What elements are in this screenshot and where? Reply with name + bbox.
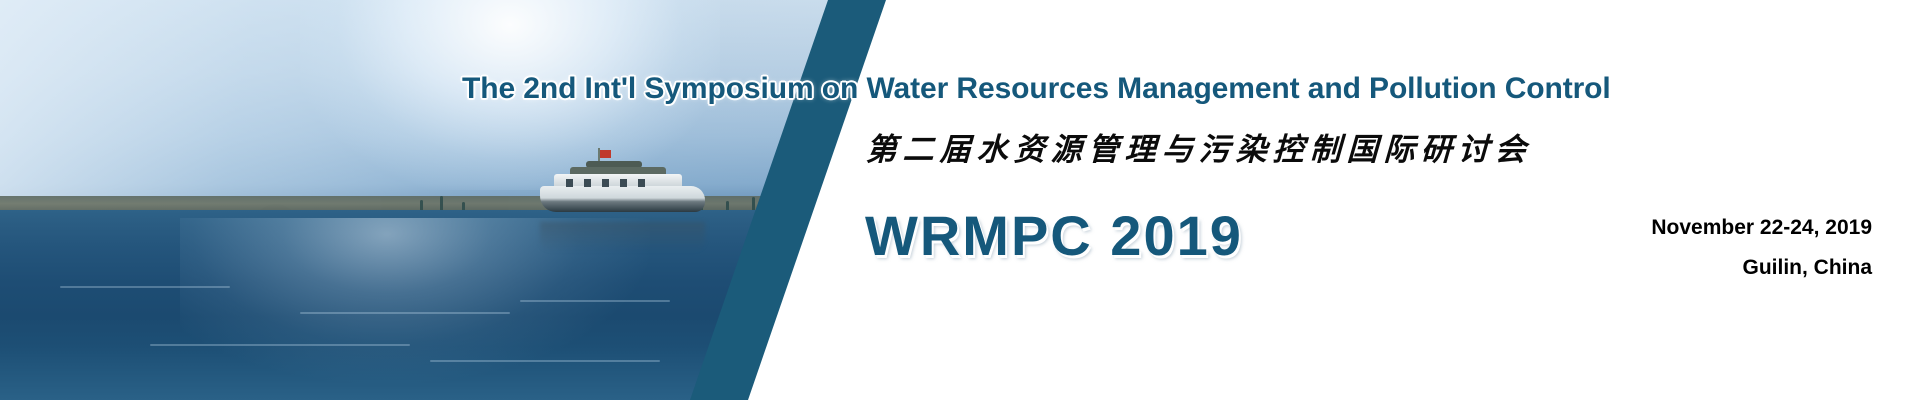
boat-window <box>620 179 627 187</box>
boat-hull <box>540 186 705 212</box>
boat-window <box>566 179 573 187</box>
conference-acronym-logo: WRMPC 2019 <box>865 203 1243 268</box>
white-content-panel <box>700 0 1920 400</box>
boat-window <box>584 179 591 187</box>
red-flag-icon <box>600 150 611 158</box>
event-location: Guilin, China <box>1651 248 1872 288</box>
boat-window <box>602 179 609 187</box>
boat-window <box>638 179 645 187</box>
boat-reflection <box>540 222 705 252</box>
symposium-title-chinese: 第二届水资源管理与污染控制国际研讨会 <box>865 124 1533 169</box>
event-meta: November 22-24, 2019 Guilin, China <box>1651 208 1872 288</box>
event-date: November 22-24, 2019 <box>1651 208 1872 248</box>
tour-boat <box>540 160 705 222</box>
symposium-title: The 2nd Int'l Symposium on Water Resourc… <box>462 72 1882 106</box>
conference-banner: The 2nd Int'l Symposium on Water Resourc… <box>0 0 1920 400</box>
